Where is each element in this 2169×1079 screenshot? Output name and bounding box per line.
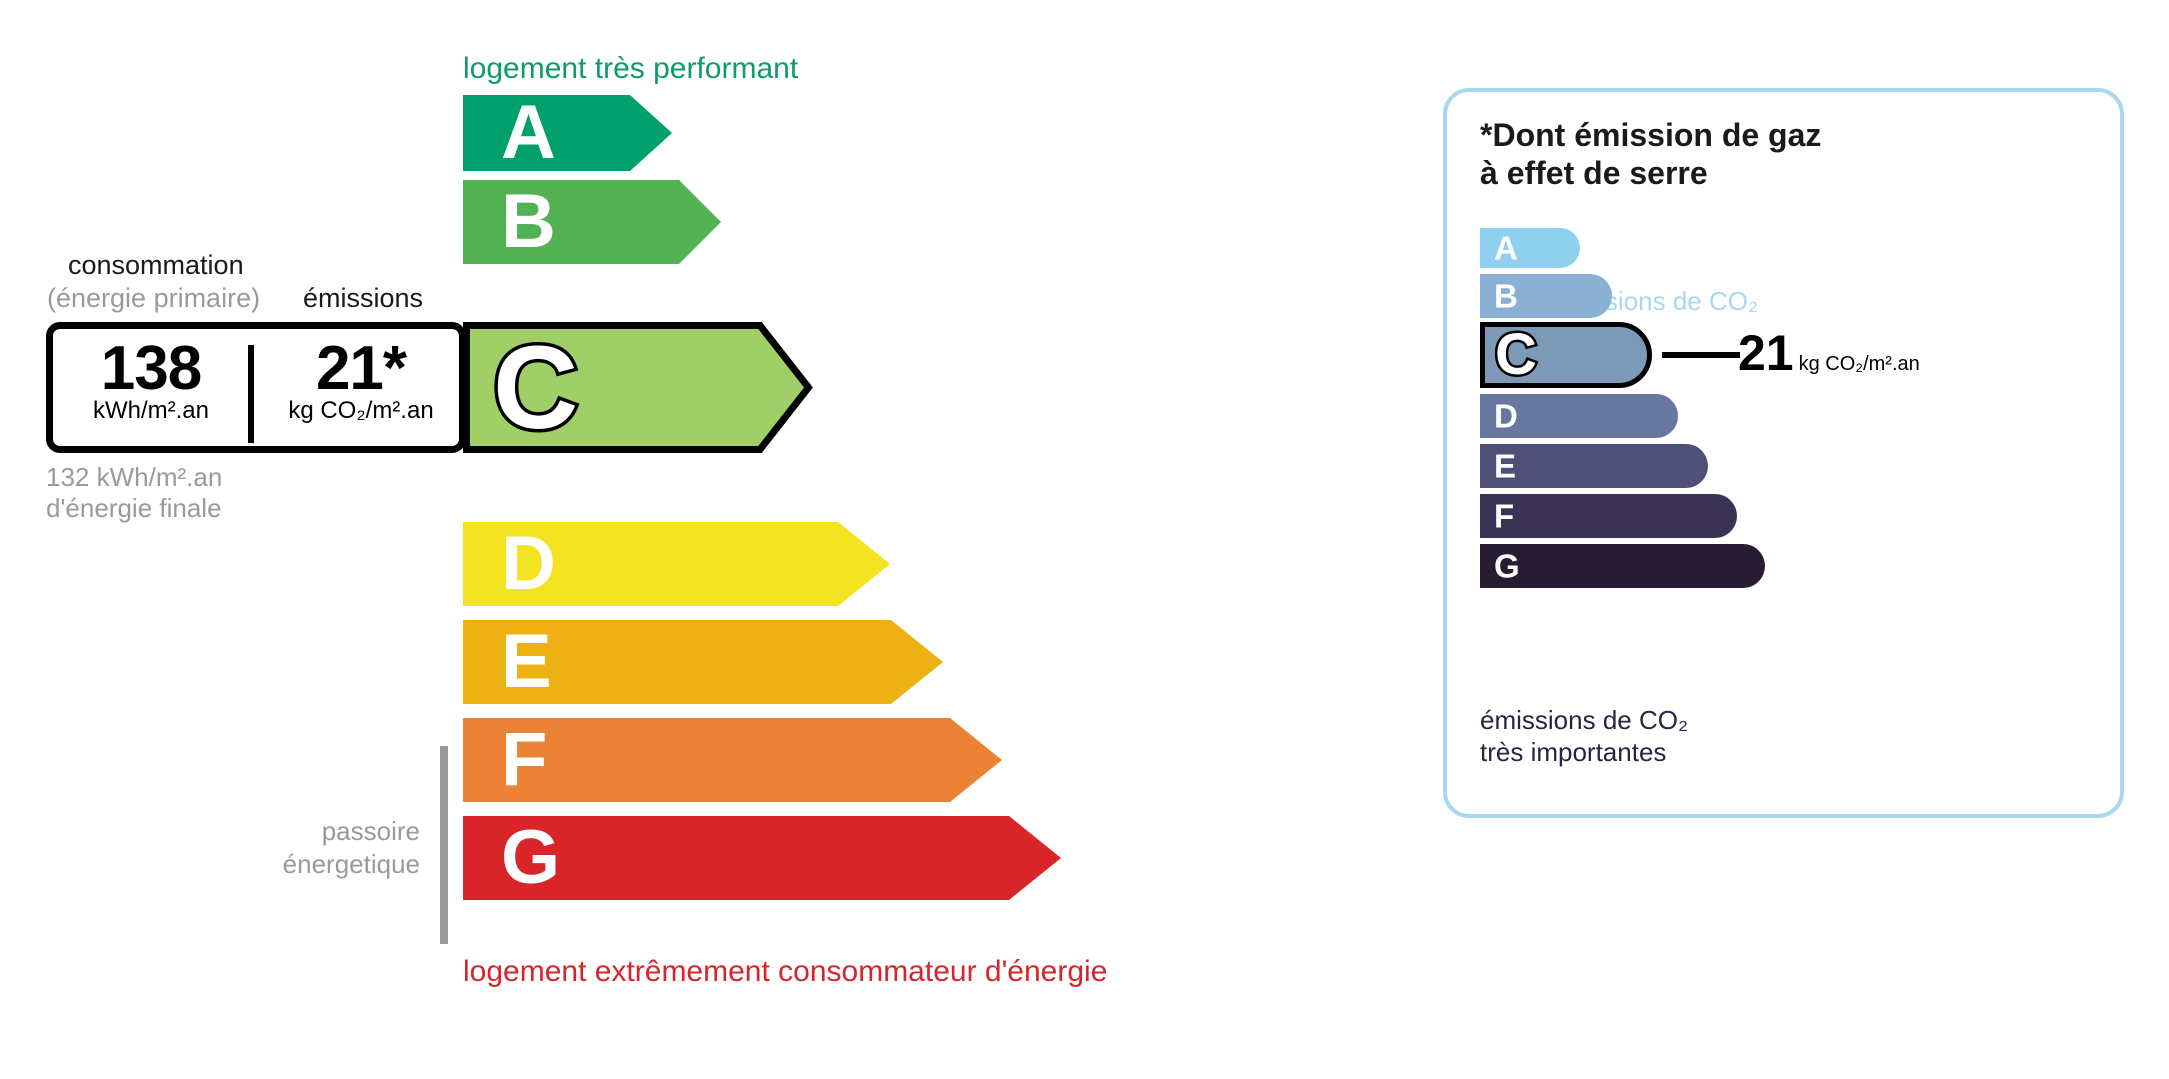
energy-bar-A: A [463, 95, 672, 171]
emission-unit: kg CO₂/m².an [255, 398, 467, 424]
ges-value-number: 21 [1738, 325, 1794, 381]
energy-bar-letter: C [493, 329, 578, 447]
energy-bar-letter: B [501, 184, 556, 260]
ges-value-unit: kg CO₂/m².an [1799, 353, 1920, 375]
ges-bar-B: B [1480, 274, 1612, 318]
energy-consumption-scale: logement très performant ABCDEFG consomm… [0, 0, 1400, 1079]
ges-bar-letter: G [1494, 550, 1520, 583]
ges-value-readout: 21kg CO₂/m².an [1738, 324, 1920, 382]
header-emissions-label: émissions [303, 283, 423, 314]
ges-bar-letter: C [1495, 326, 1537, 384]
emission-value: 21* [255, 337, 467, 400]
consumption-unit: kWh/m².an [53, 398, 249, 424]
ges-bar-G: G [1480, 544, 1765, 588]
header-consumption-label: consommation [68, 250, 244, 281]
consumption-value: 138 [53, 337, 249, 400]
passoire-label: passoire énergetique [180, 815, 420, 880]
energy-bar-letter: G [501, 820, 560, 896]
energy-bar-G: G [463, 816, 1061, 900]
final-energy-note: 132 kWh/m².an d'énergie finale [46, 462, 222, 524]
dpe-label: logement très performant ABCDEFG consomm… [0, 0, 2169, 1079]
ges-leader-line [1662, 352, 1740, 358]
ges-bar-letter: F [1494, 500, 1514, 533]
ges-bar-letter: E [1494, 450, 1516, 483]
ges-bar-C: C [1480, 322, 1652, 388]
ges-bar-F: F [1480, 494, 1737, 538]
energy-bar-letter: A [501, 95, 556, 171]
energy-bar-letter: D [501, 526, 556, 602]
ges-bar-D: D [1480, 394, 1678, 438]
header-consumption-sublabel: (énergie primaire) [47, 283, 260, 314]
ges-bar-letter: B [1494, 280, 1518, 313]
emission-readout: 21* kg CO₂/m².an [255, 337, 467, 425]
energy-bar-E: E [463, 620, 943, 704]
energy-bar-C: C [463, 322, 812, 453]
ges-emissions-panel: *Dont émission de gaz à effet de serre p… [1443, 88, 2124, 818]
energy-bar-D: D [463, 522, 890, 606]
ges-bar-A: A [1480, 228, 1580, 268]
energy-bar-letter: E [501, 624, 552, 700]
passoire-marker-bar [440, 746, 448, 944]
value-readout-box: 138 kWh/m².an 21* kg CO₂/m².an [46, 322, 466, 453]
consumption-readout: 138 kWh/m².an [53, 337, 249, 425]
energy-bar-B: B [463, 180, 721, 264]
ges-bottom-caption: émissions de CO₂ très importantes [1480, 705, 1688, 768]
ges-bar-E: E [1480, 444, 1708, 488]
ges-panel-title: *Dont émission de gaz à effet de serre [1480, 117, 1821, 193]
energy-bar-F: F [463, 718, 1002, 802]
ges-bar-letter: D [1494, 400, 1518, 433]
energy-bar-letter: F [501, 722, 547, 798]
scale-bottom-caption: logement extrêmement consommateur d'éner… [463, 955, 1107, 989]
ges-bar-letter: A [1494, 232, 1518, 265]
scale-top-caption: logement très performant [463, 52, 798, 86]
